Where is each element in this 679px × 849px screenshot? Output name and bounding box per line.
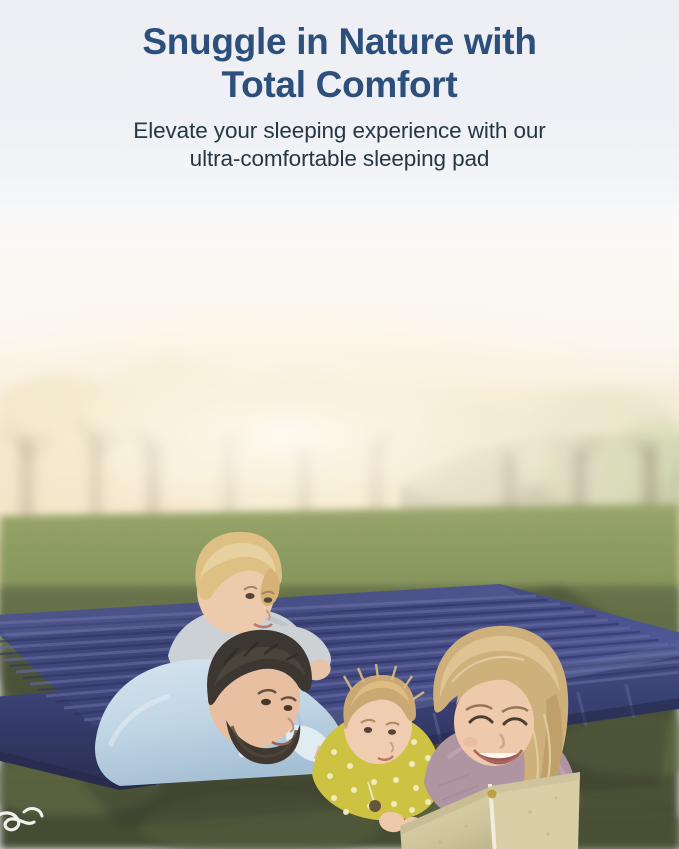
page-title: Snuggle in Nature with Total Comfort: [0, 0, 679, 107]
headline-line-2: Total Comfort: [0, 63, 679, 106]
page-subtitle: Elevate your sleeping experience with ou…: [0, 117, 679, 175]
header: Snuggle in Nature with Total Comfort Ele…: [0, 0, 679, 200]
headline-line-1: Snuggle in Nature with: [142, 21, 536, 62]
product-advertisement: Snuggle in Nature with Total Comfort Ele…: [0, 0, 679, 849]
subtitle-line-1: Elevate your sleeping experience with ou…: [133, 118, 545, 143]
hero-photo: [0, 186, 679, 849]
subtitle-line-2: ultra-comfortable sleeping pad: [0, 145, 679, 174]
photo-illustration: [0, 186, 679, 849]
warm-color-grade: [0, 186, 679, 849]
